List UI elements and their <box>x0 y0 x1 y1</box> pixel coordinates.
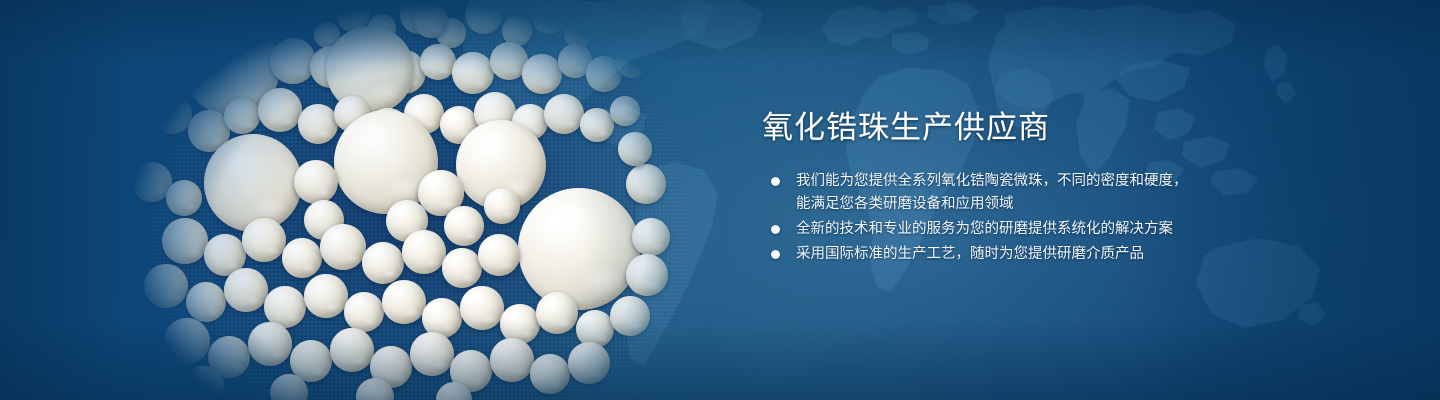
list-item-line: 我们能为您提供全系列氧化锆陶瓷微珠，不同的密度和硬度， <box>796 170 1230 193</box>
banner-headline: 氧化锆珠生产供应商 <box>762 108 1050 148</box>
bullet-dot-icon <box>771 225 780 234</box>
banner-content: 氧化锆珠生产供应商 我们能为您提供全系列氧化锆陶瓷微珠，不同的密度和硬度， 能满… <box>762 0 1232 400</box>
bullet-dot-icon <box>771 250 780 259</box>
hero-banner: 氧化锆珠生产供应商 我们能为您提供全系列氧化锆陶瓷微珠，不同的密度和硬度， 能满… <box>0 0 1440 400</box>
list-item-line: 能满足您各类研磨设备和应用领域 <box>796 193 1230 216</box>
list-item: 全新的技术和专业的服务为您的研磨提供系统化的解决方案 <box>764 218 1230 241</box>
bullet-dot-icon <box>771 177 780 186</box>
list-item: 采用国际标准的生产工艺，随时为您提供研磨介质产品 <box>764 243 1230 266</box>
list-item: 我们能为您提供全系列氧化锆陶瓷微珠，不同的密度和硬度， 能满足您各类研磨设备和应… <box>764 170 1230 216</box>
feature-list: 我们能为您提供全系列氧化锆陶瓷微珠，不同的密度和硬度， 能满足您各类研磨设备和应… <box>764 170 1230 268</box>
list-item-line: 采用国际标准的生产工艺，随时为您提供研磨介质产品 <box>796 243 1230 266</box>
list-item-line: 全新的技术和专业的服务为您的研磨提供系统化的解决方案 <box>796 218 1230 241</box>
